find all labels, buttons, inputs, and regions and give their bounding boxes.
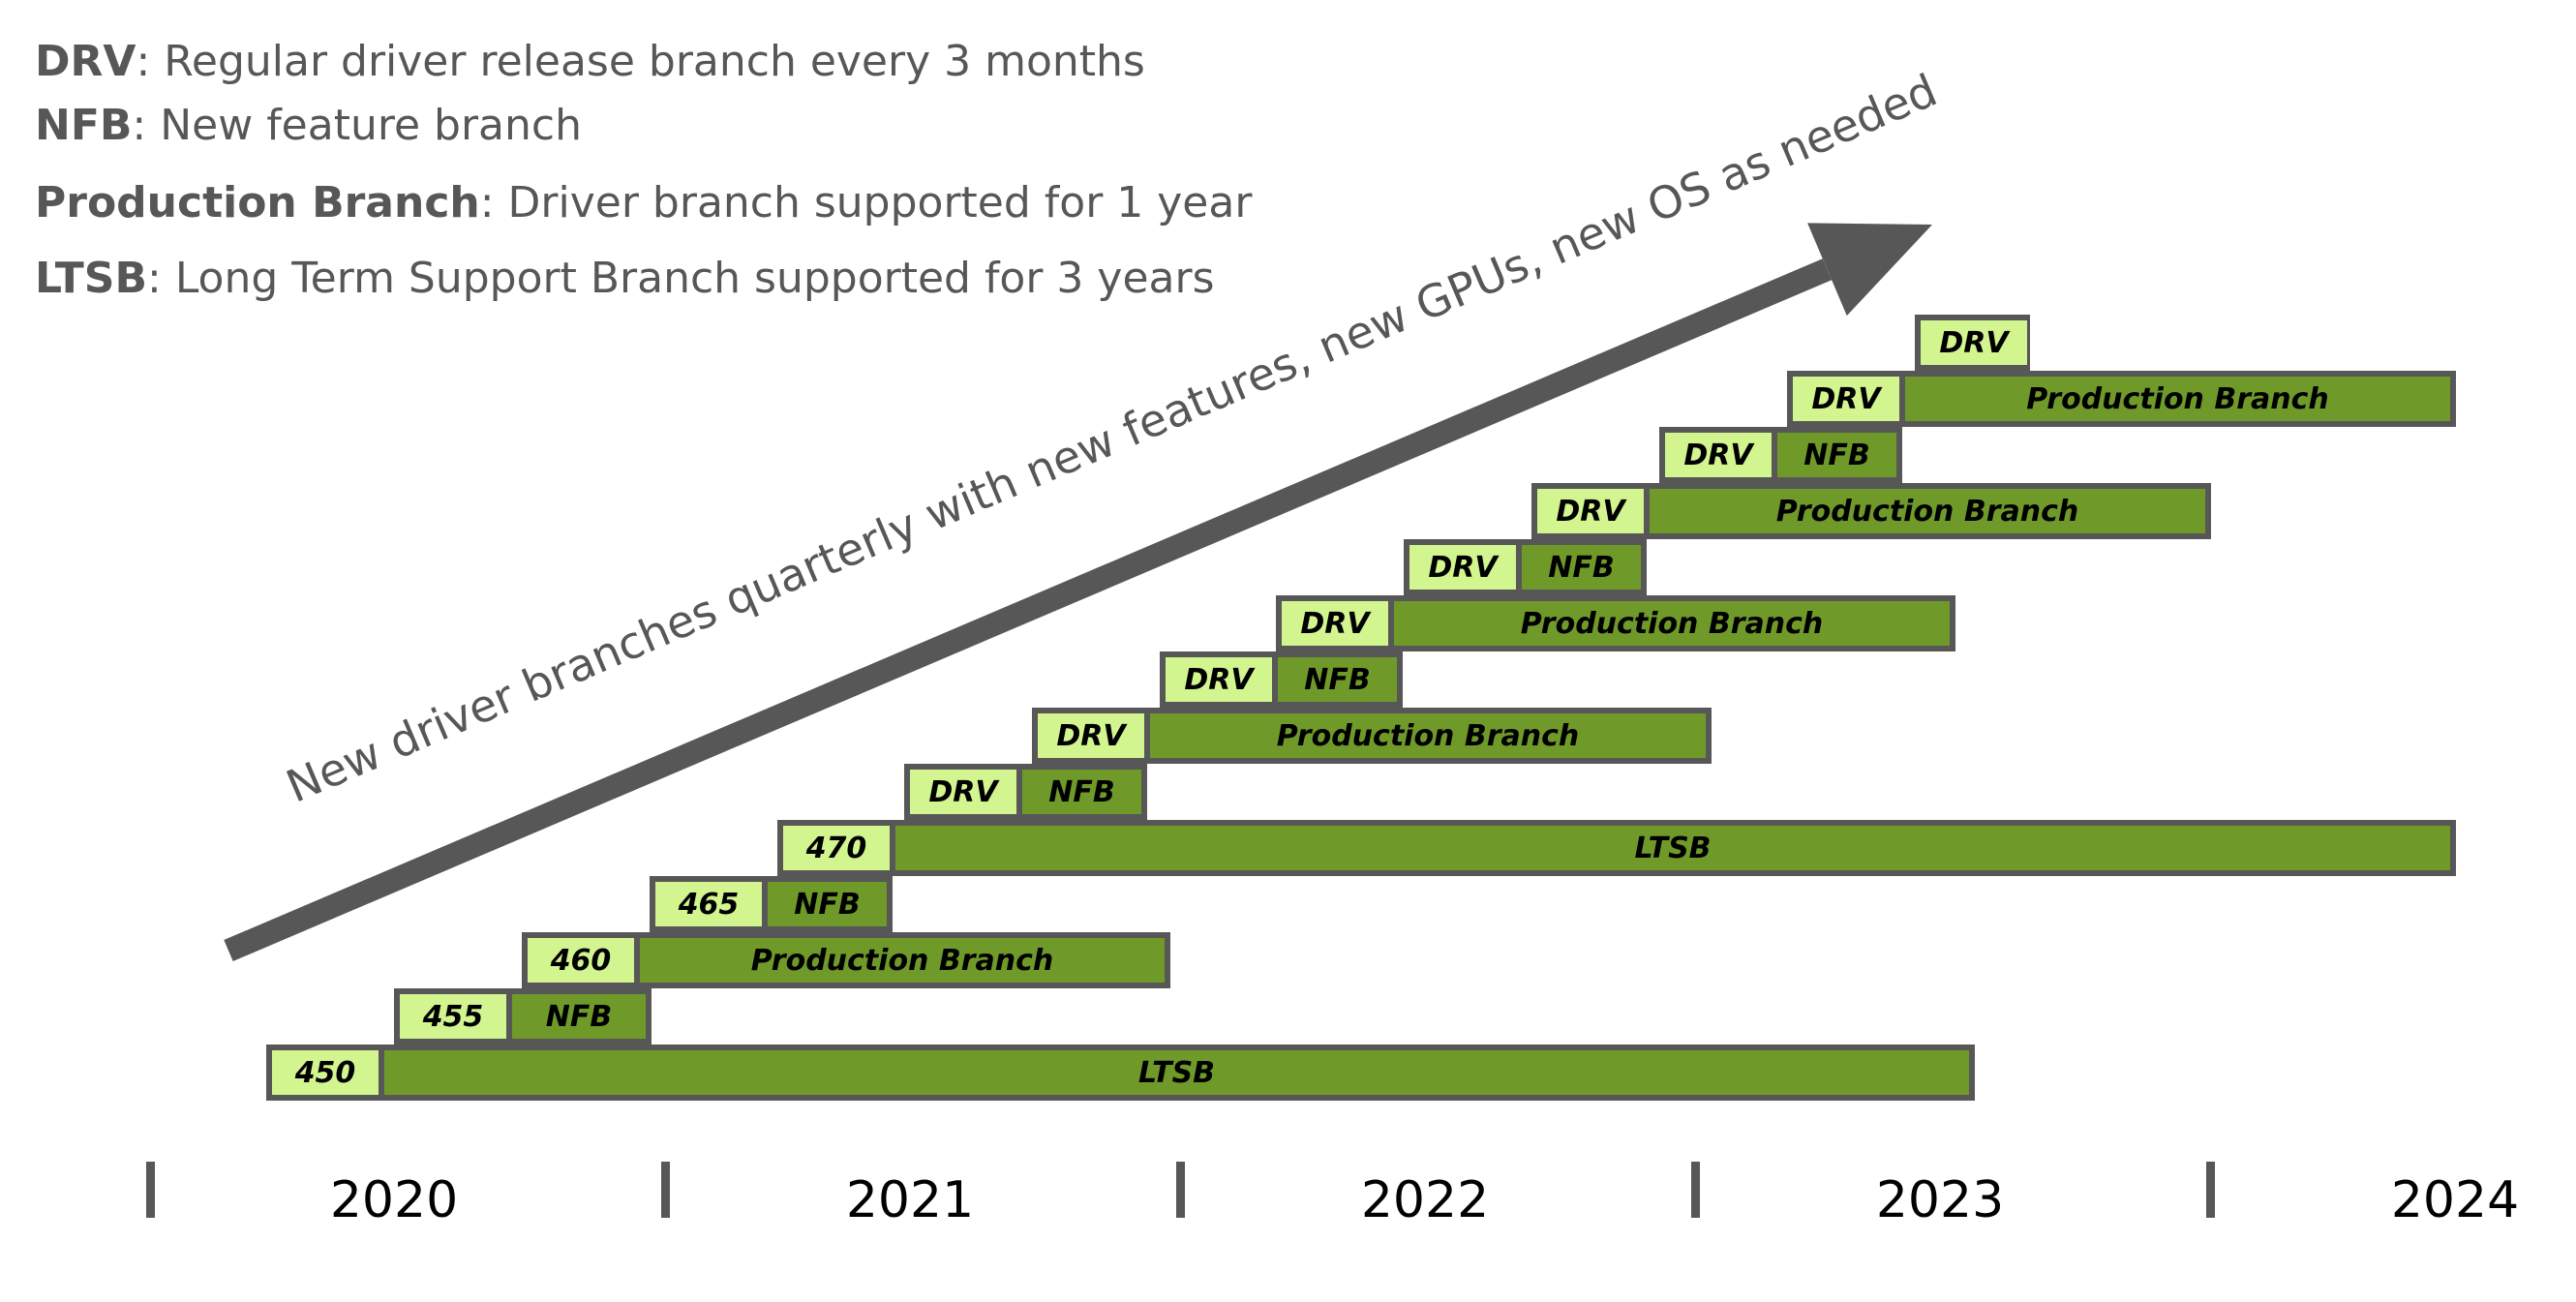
branch-duration-bar[interactable]: NFB — [1519, 539, 1647, 595]
axis-year-label: 2024 — [2391, 1171, 2519, 1229]
branch-label-box[interactable]: DRV — [1659, 427, 1774, 483]
branch-duration-bar[interactable]: NFB — [509, 988, 652, 1045]
axis-year-label: 2022 — [1361, 1171, 1489, 1229]
arrow-head — [1807, 223, 1932, 316]
timeline-row: 455NFB — [0, 988, 2576, 1045]
timeline-diagram: DRV: Regular driver release branch every… — [0, 0, 2576, 1302]
branch-duration-bar[interactable]: NFB — [765, 876, 893, 932]
branch-label-box[interactable]: DRV — [1531, 483, 1647, 539]
axis-tick — [661, 1162, 670, 1218]
legend-term-nfb: NFB — [35, 101, 132, 150]
legend-item-ltsb: LTSB: Long Term Support Branch supported… — [35, 257, 1215, 300]
axis-year-label: 2021 — [846, 1171, 974, 1229]
legend-desc-production-branch: Driver branch supported for 1 year — [508, 178, 1253, 227]
branch-duration-bar[interactable]: NFB — [1774, 427, 1902, 483]
branch-duration-bar[interactable]: LTSB — [381, 1045, 1975, 1101]
branch-duration-bar[interactable]: Production Branch — [1647, 483, 2211, 539]
legend-desc-drv: Regular driver release branch every 3 mo… — [164, 37, 1145, 86]
branch-label-box[interactable]: 450 — [266, 1045, 381, 1101]
branch-label-box[interactable]: 465 — [650, 876, 765, 932]
branch-label-box[interactable]: DRV — [1160, 651, 1275, 708]
branch-label-box[interactable]: 470 — [777, 820, 893, 876]
timeline-row: DRVProduction Branch — [0, 483, 2576, 539]
branch-duration-bar[interactable]: Production Branch — [1391, 595, 1955, 651]
branch-label-box[interactable]: DRV — [904, 764, 1019, 820]
branch-duration-bar[interactable]: Production Branch — [1902, 371, 2456, 427]
legend-term-ltsb: LTSB — [35, 254, 147, 303]
timeline-row: 460Production Branch — [0, 932, 2576, 988]
timeline-row: DRVNFB — [0, 427, 2576, 483]
axis-tick — [1691, 1162, 1700, 1218]
axis-tick — [2206, 1162, 2215, 1218]
legend-sep-nfb: : — [132, 101, 160, 150]
branch-duration-bar[interactable]: LTSB — [893, 820, 2456, 876]
timeline-row: 465NFB — [0, 876, 2576, 932]
timeline-row: DRVNFB — [0, 539, 2576, 595]
year-axis: 20202021202220232024 — [0, 1162, 2576, 1302]
legend-item-production-branch: Production Branch: Driver branch support… — [35, 182, 1252, 225]
timeline-row: DRV — [0, 315, 2576, 371]
legend-desc-nfb: New feature branch — [160, 101, 582, 150]
axis-year-label: 2020 — [330, 1171, 458, 1229]
branch-duration-bar[interactable]: Production Branch — [637, 932, 1170, 988]
timeline-row: 470LTSB — [0, 820, 2576, 876]
timeline-row: 450LTSB — [0, 1045, 2576, 1101]
branch-label-box[interactable]: DRV — [1032, 708, 1147, 764]
legend-sep-production-branch: : — [480, 178, 508, 227]
timeline-row: DRVNFB — [0, 764, 2576, 820]
branch-label-box[interactable]: 455 — [394, 988, 509, 1045]
legend-sep-ltsb: : — [147, 254, 175, 303]
branch-label-box[interactable]: DRV — [1404, 539, 1519, 595]
branch-label-box[interactable]: DRV — [1787, 371, 1902, 427]
legend-desc-ltsb: Long Term Support Branch supported for 3… — [175, 254, 1215, 303]
branch-duration-bar[interactable]: NFB — [1019, 764, 1147, 820]
timeline-row: DRVNFB — [0, 651, 2576, 708]
legend-sep-drv: : — [136, 37, 164, 86]
legend-term-production-branch: Production Branch — [35, 178, 480, 227]
branch-label-box[interactable]: DRV — [1276, 595, 1391, 651]
branch-duration-bar[interactable]: NFB — [1275, 651, 1403, 708]
timeline-row: DRVProduction Branch — [0, 595, 2576, 651]
timeline-row: DRVProduction Branch — [0, 371, 2576, 427]
branch-label-box[interactable]: DRV — [1915, 315, 2030, 371]
legend-item-nfb: NFB: New feature branch — [35, 105, 582, 147]
timeline-row: DRVProduction Branch — [0, 708, 2576, 764]
branch-duration-bar[interactable]: Production Branch — [1147, 708, 1712, 764]
axis-tick — [146, 1162, 155, 1218]
legend-item-drv: DRV: Regular driver release branch every… — [35, 41, 1145, 83]
legend-term-drv: DRV — [35, 37, 136, 86]
axis-year-label: 2023 — [1876, 1171, 2004, 1229]
axis-tick — [1176, 1162, 1185, 1218]
branch-label-box[interactable]: 460 — [522, 932, 637, 988]
